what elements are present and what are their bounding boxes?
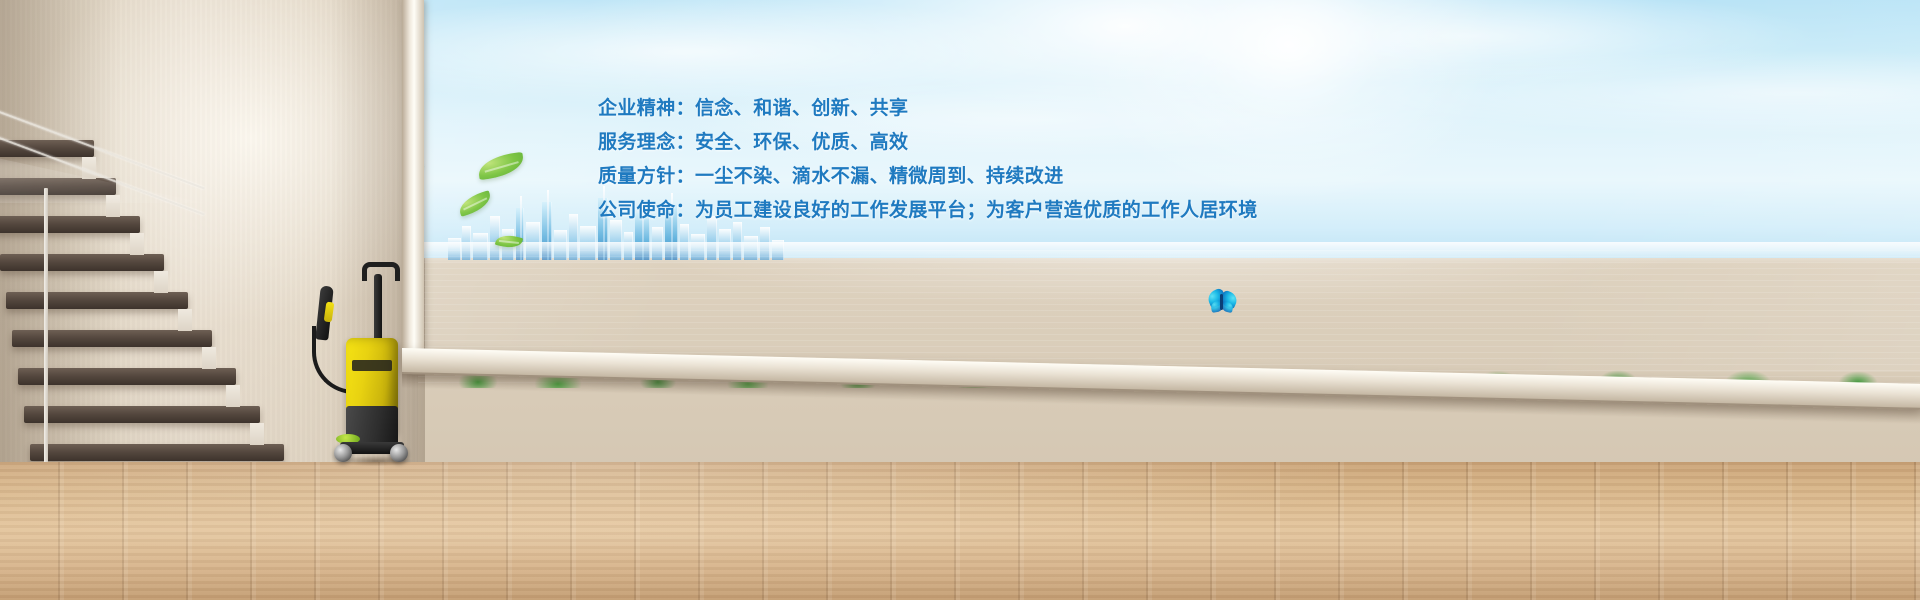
- company-culture-slogans: 企业精神：信念、和谐、创新、共享 服务理念：安全、环保、优质、高效 质量方针：一…: [598, 92, 1358, 228]
- stair-tread: [0, 254, 164, 271]
- stair-riser: [202, 347, 216, 369]
- washer-label: [352, 360, 392, 371]
- hero-banner: 企业精神：信念、和谐、创新、共享 服务理念：安全、环保、优质、高效 质量方针：一…: [0, 0, 1920, 600]
- stair-riser: [154, 271, 168, 293]
- stair-tread: [0, 216, 140, 233]
- stair-riser: [226, 385, 240, 407]
- washer-gun-trigger: [324, 302, 335, 323]
- stair-tread: [18, 368, 236, 385]
- stair-tread: [30, 444, 284, 461]
- stair-riser: [178, 309, 192, 331]
- slogan-line-1: 企业精神：信念、和谐、创新、共享: [598, 92, 1358, 126]
- slogan-line-4: 公司使命：为员工建设良好的工作发展平台；为客户营造优质的工作人居环境: [598, 194, 1358, 228]
- butterfly: [1208, 290, 1238, 316]
- stair-tread: [12, 330, 212, 347]
- staircase: [0, 140, 215, 500]
- railing-post: [44, 188, 48, 488]
- slogan-line-2: 服务理念：安全、环保、优质、高效: [598, 126, 1358, 160]
- floor-light-sheen: [0, 462, 1920, 600]
- washer-handle-stem: [374, 274, 382, 344]
- stair-riser: [250, 423, 264, 445]
- slogan-line-3: 质量方针：一尘不染、滴水不漏、精微周到、持续改进: [598, 160, 1358, 194]
- stair-tread: [24, 406, 260, 423]
- stair-tread: [6, 292, 188, 309]
- washer-wheel-right: [390, 444, 408, 462]
- interior-room: [0, 0, 1920, 600]
- washer-wheel-left: [334, 444, 352, 462]
- stair-riser: [130, 233, 144, 255]
- pressure-washer: [306, 256, 424, 466]
